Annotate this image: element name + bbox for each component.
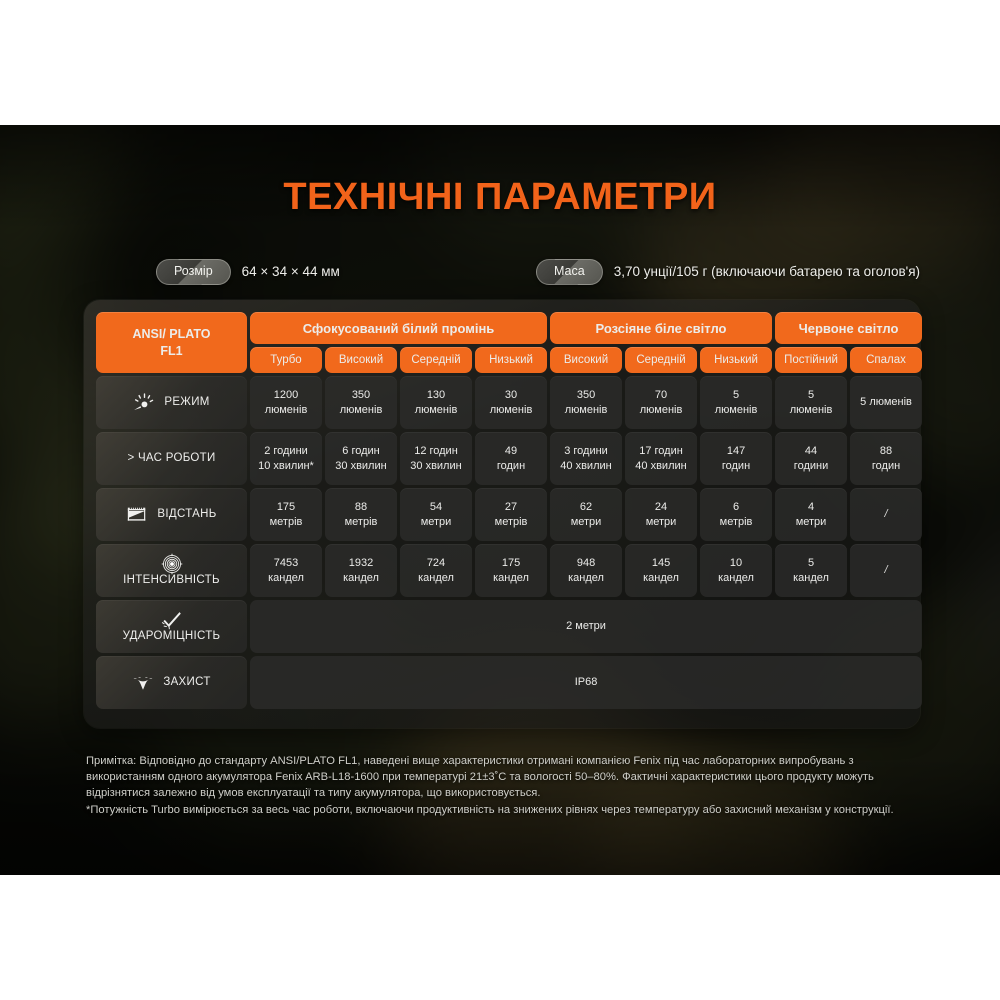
table-row: ІНТЕНСИВНІСТЬ 7453кандел 1932кандел 724к… (96, 544, 922, 597)
footnote: Примітка: Відповідно до стандарту ANSI/P… (86, 753, 916, 818)
weight-value: 3,70 унції/105 г (включаючи батарею та о… (614, 264, 920, 279)
header-mode-mid-1: Середній (400, 347, 472, 373)
intensity-target-icon (161, 553, 183, 575)
row-label-text: ЗАХИСТ (163, 675, 210, 690)
footnote-line-2: *Потужність Turbo вимірюється за весь ча… (86, 802, 916, 818)
spec-sheet-page: ТЕХНІЧНІ ПАРАМЕТРИ Розмір 64 × 34 × 44 м… (0, 0, 1000, 1000)
ansi-line-2: FL1 (96, 343, 247, 360)
cell-intensity-steady: 5кандел (775, 544, 847, 597)
table-row: ВІДСТАНЬ 175метрів 88метрів 54метри 27ме… (96, 488, 922, 541)
row-label-output: РЕЖИМ (96, 376, 247, 429)
cell-output-turbo: 1200люменів (250, 376, 322, 429)
cell-output-low1: 30люменів (475, 376, 547, 429)
spec-table-panel: ANSI/ PLATO FL1 Сфокусований білий промі… (84, 300, 920, 728)
header-mode-high-2: Високий (550, 347, 622, 373)
cell-output-high1: 350люменів (325, 376, 397, 429)
cell-distance-flash: / (850, 488, 922, 541)
cell-output-mid1: 130люменів (400, 376, 472, 429)
cell-runtime-low2: 147годин (700, 432, 772, 485)
row-label-inner: ІНТЕНСИВНІСТЬ (96, 544, 247, 597)
ansi-line-1: ANSI/ PLATO (96, 326, 247, 343)
header-mode-high-1: Високий (325, 347, 397, 373)
cell-intensity-low1: 175кандел (475, 544, 547, 597)
row-label-impact: УДАРОМІЦНІСТЬ (96, 600, 247, 653)
row-label-distance: ВІДСТАНЬ (96, 488, 247, 541)
cell-intensity-high2: 948кандел (550, 544, 622, 597)
cell-intensity-turbo: 7453кандел (250, 544, 322, 597)
header-mode-steady: Постійний (775, 347, 847, 373)
table-row: > ЧАС РОБОТИ 2 години10 хвилин* 6 годин3… (96, 432, 922, 485)
size-pill-label: Розмір (156, 259, 231, 285)
impact-check-icon (161, 609, 183, 631)
cell-intensity-mid1: 724кандел (400, 544, 472, 597)
cell-distance-mid2: 24метри (625, 488, 697, 541)
cell-runtime-high1: 6 годин30 хвилин (325, 432, 397, 485)
table-row: РЕЖИМ 1200люменів 350люменів 130люменів … (96, 376, 922, 429)
cell-output-mid2: 70люменів (625, 376, 697, 429)
cell-runtime-mid2: 17 годин40 хвилин (625, 432, 697, 485)
cell-output-steady: 5люменів (775, 376, 847, 429)
table-row: УДАРОМІЦНІСТЬ 2 метри (96, 600, 922, 653)
cell-intensity-flash: / (850, 544, 922, 597)
weight-pill-label: Маса (536, 259, 603, 285)
page-title: ТЕХНІЧНІ ПАРАМЕТРИ (0, 176, 1000, 219)
header-mode-low-1: Низький (475, 347, 547, 373)
cell-intensity-mid2: 145кандел (625, 544, 697, 597)
cell-runtime-high2: 3 години40 хвилин (550, 432, 622, 485)
row-label-intensity: ІНТЕНСИВНІСТЬ (96, 544, 247, 597)
header-mode-low-2: Низький (700, 347, 772, 373)
row-label-runtime: > ЧАС РОБОТИ (96, 432, 247, 485)
cell-runtime-flash: 88годин (850, 432, 922, 485)
spec-pills-row: Розмір 64 × 34 × 44 мм Маса 3,70 унції/1… (0, 259, 1000, 285)
row-label-inner: ВІДСТАНЬ (96, 488, 247, 541)
footnote-line-1: Примітка: Відповідно до стандарту ANSI/P… (86, 753, 916, 802)
row-label-protection: ЗАХИСТ (96, 656, 247, 709)
cell-distance-mid1: 54метри (400, 488, 472, 541)
row-label-inner: РЕЖИМ (96, 376, 247, 429)
beam-distance-icon (126, 504, 148, 526)
cell-runtime-turbo: 2 години10 хвилин* (250, 432, 322, 485)
water-drop-icon (132, 672, 154, 694)
header-group-red-light: Червоне світло (775, 312, 922, 344)
cell-intensity-high1: 1932кандел (325, 544, 397, 597)
cell-runtime-steady: 44години (775, 432, 847, 485)
row-label-text: РЕЖИМ (164, 395, 209, 410)
cell-distance-turbo: 175метрів (250, 488, 322, 541)
row-label-inner: > ЧАС РОБОТИ (96, 432, 247, 485)
cell-output-low2: 5люменів (700, 376, 772, 429)
row-label-inner: ЗАХИСТ (96, 656, 247, 709)
cell-distance-high1: 88метрів (325, 488, 397, 541)
table-row: ЗАХИСТ IP68 (96, 656, 922, 709)
cell-output-flash: 5 люменів (850, 376, 922, 429)
spec-table: ANSI/ PLATO FL1 Сфокусований білий промі… (93, 309, 925, 712)
row-label-text: ВІДСТАНЬ (157, 507, 216, 522)
cell-distance-steady: 4метри (775, 488, 847, 541)
cell-distance-high2: 62метри (550, 488, 622, 541)
header-ansi-plato: ANSI/ PLATO FL1 (96, 312, 247, 373)
row-label-text: УДАРОМІЦНІСТЬ (123, 629, 221, 644)
row-label-text: > ЧАС РОБОТИ (127, 451, 215, 466)
cell-ip-rating-value: IP68 (250, 656, 922, 709)
table-header-group-row: ANSI/ PLATO FL1 Сфокусований білий промі… (96, 312, 922, 344)
header-mode-flash: Спалах (850, 347, 922, 373)
header-mode-mid-2: Середній (625, 347, 697, 373)
size-value: 64 × 34 × 44 мм (242, 264, 340, 279)
header-group-diffused-white: Розсіяне біле світло (550, 312, 772, 344)
light-burst-icon (133, 392, 155, 414)
cell-impact-resistance-value: 2 метри (250, 600, 922, 653)
spec-size: Розмір 64 × 34 × 44 мм (156, 259, 340, 285)
cell-output-high2: 350люменів (550, 376, 622, 429)
spec-weight: Маса 3,70 унції/105 г (включаючи батарею… (536, 259, 920, 285)
cell-distance-low1: 27метрів (475, 488, 547, 541)
header-group-focused-white: Сфокусований білий промінь (250, 312, 547, 344)
cell-runtime-mid1: 12 годин30 хвилин (400, 432, 472, 485)
cell-distance-low2: 6метрів (700, 488, 772, 541)
row-label-text: ІНТЕНСИВНІСТЬ (123, 573, 220, 588)
cell-runtime-low1: 49годин (475, 432, 547, 485)
header-mode-turbo: Турбо (250, 347, 322, 373)
row-label-inner: УДАРОМІЦНІСТЬ (96, 600, 247, 653)
cell-intensity-low2: 10кандел (700, 544, 772, 597)
